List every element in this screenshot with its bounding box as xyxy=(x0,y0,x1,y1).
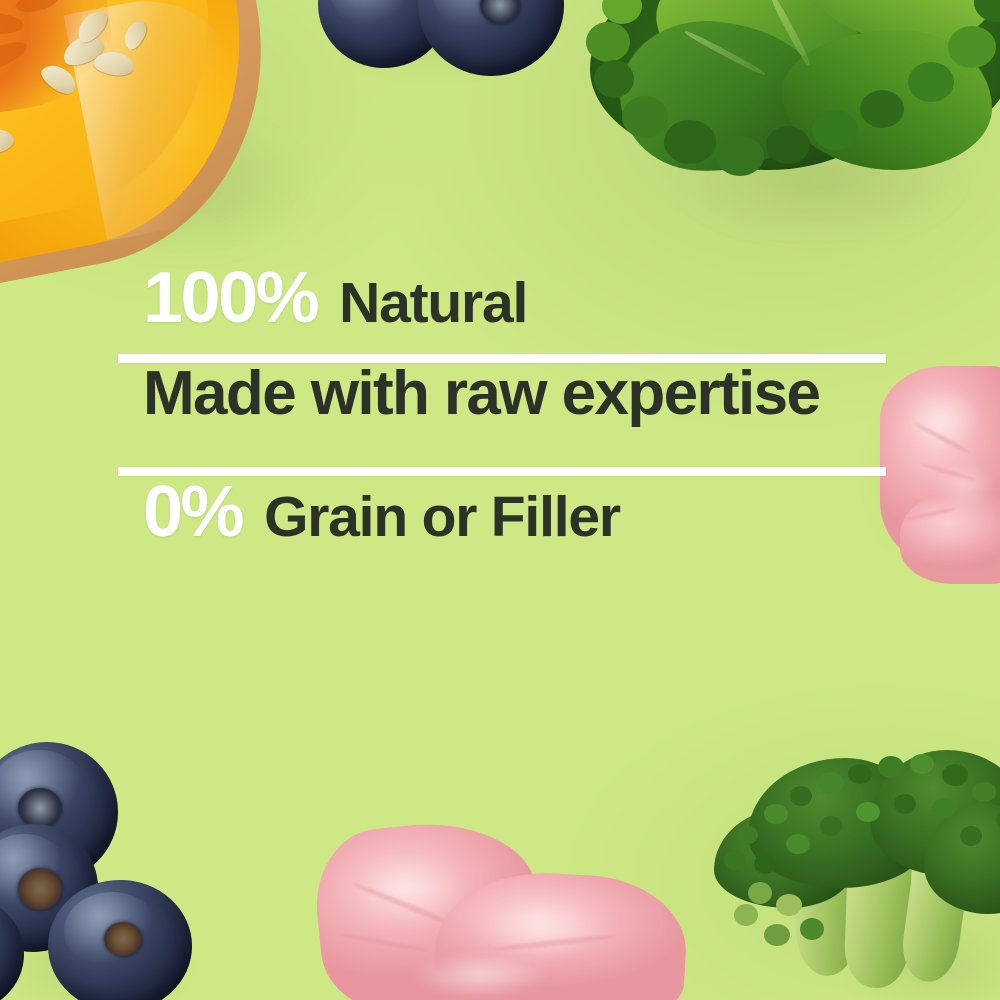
pumpkin-shadow xyxy=(54,110,314,260)
blueberry-shadow xyxy=(332,4,542,74)
pumpkin-seed-cavity xyxy=(0,0,120,125)
chicken-piece xyxy=(900,494,1000,584)
chicken-piece xyxy=(433,868,690,1000)
chicken-piece xyxy=(309,813,547,1000)
pumpkin-flesh xyxy=(0,0,277,270)
blueberry-calyx xyxy=(18,868,62,910)
kale-leaf-image xyxy=(560,0,1000,260)
pumpkin-squash-wedge-image xyxy=(0,0,284,290)
blueberry-cluster-shadow xyxy=(0,918,192,1000)
pumpkin-seed xyxy=(59,31,108,71)
pumpkin-seed xyxy=(93,49,136,77)
chicken-piece xyxy=(880,366,1000,571)
blueberry-cluster-image xyxy=(0,742,218,1000)
pumpkin-seed xyxy=(37,59,81,98)
broccoli-stem xyxy=(787,843,858,978)
claim-label-raw-expertise: Made with raw expertise xyxy=(143,363,819,425)
claims-text-block: 100% Natural Made with raw expertise 0% … xyxy=(118,262,886,568)
blueberry xyxy=(0,742,118,882)
pumpkin-seed xyxy=(0,126,16,159)
blueberry xyxy=(318,0,450,68)
blueberry-calyx xyxy=(18,788,62,828)
blueberry xyxy=(48,880,192,1000)
chicken-pieces-shadow xyxy=(362,898,662,1000)
pumpkin-rind xyxy=(0,0,299,290)
broccoli-floret-image xyxy=(694,742,1000,1000)
claim-percent-natural: 100% xyxy=(143,262,317,334)
blueberry xyxy=(0,812,68,930)
broccoli-stem xyxy=(898,829,974,985)
claim-row-natural: 100% Natural xyxy=(118,262,886,354)
blueberry xyxy=(418,0,564,76)
pumpkin-flesh-highlight xyxy=(0,0,242,232)
chicken-breast-right-image xyxy=(886,366,1000,581)
blueberry-calyx xyxy=(480,0,520,24)
claim-row-grain-filler: 0% Grain or Filler xyxy=(118,476,886,568)
blueberry xyxy=(0,896,24,1000)
claim-label-grain-filler: Grain or Filler xyxy=(264,489,620,546)
claim-label-natural: Natural xyxy=(339,275,527,332)
claims-banner: 100% Natural Made with raw expertise 0% … xyxy=(0,0,1000,1000)
broccoli-stem xyxy=(843,837,912,989)
claim-percent-grain-filler: 0% xyxy=(143,476,242,548)
chicken-breast-pieces-image xyxy=(318,806,688,1000)
pumpkin-rind-edge-highlight xyxy=(64,0,265,241)
blueberry xyxy=(0,824,98,952)
broccoli-shadow xyxy=(844,918,1000,1000)
claim-row-raw-expertise: Made with raw expertise xyxy=(118,363,886,467)
blueberries-top-image xyxy=(318,0,568,100)
pumpkin-seed xyxy=(72,6,112,47)
blueberry-calyx xyxy=(104,922,142,956)
pumpkin-seed xyxy=(120,18,150,53)
kale-shadow xyxy=(670,120,970,240)
